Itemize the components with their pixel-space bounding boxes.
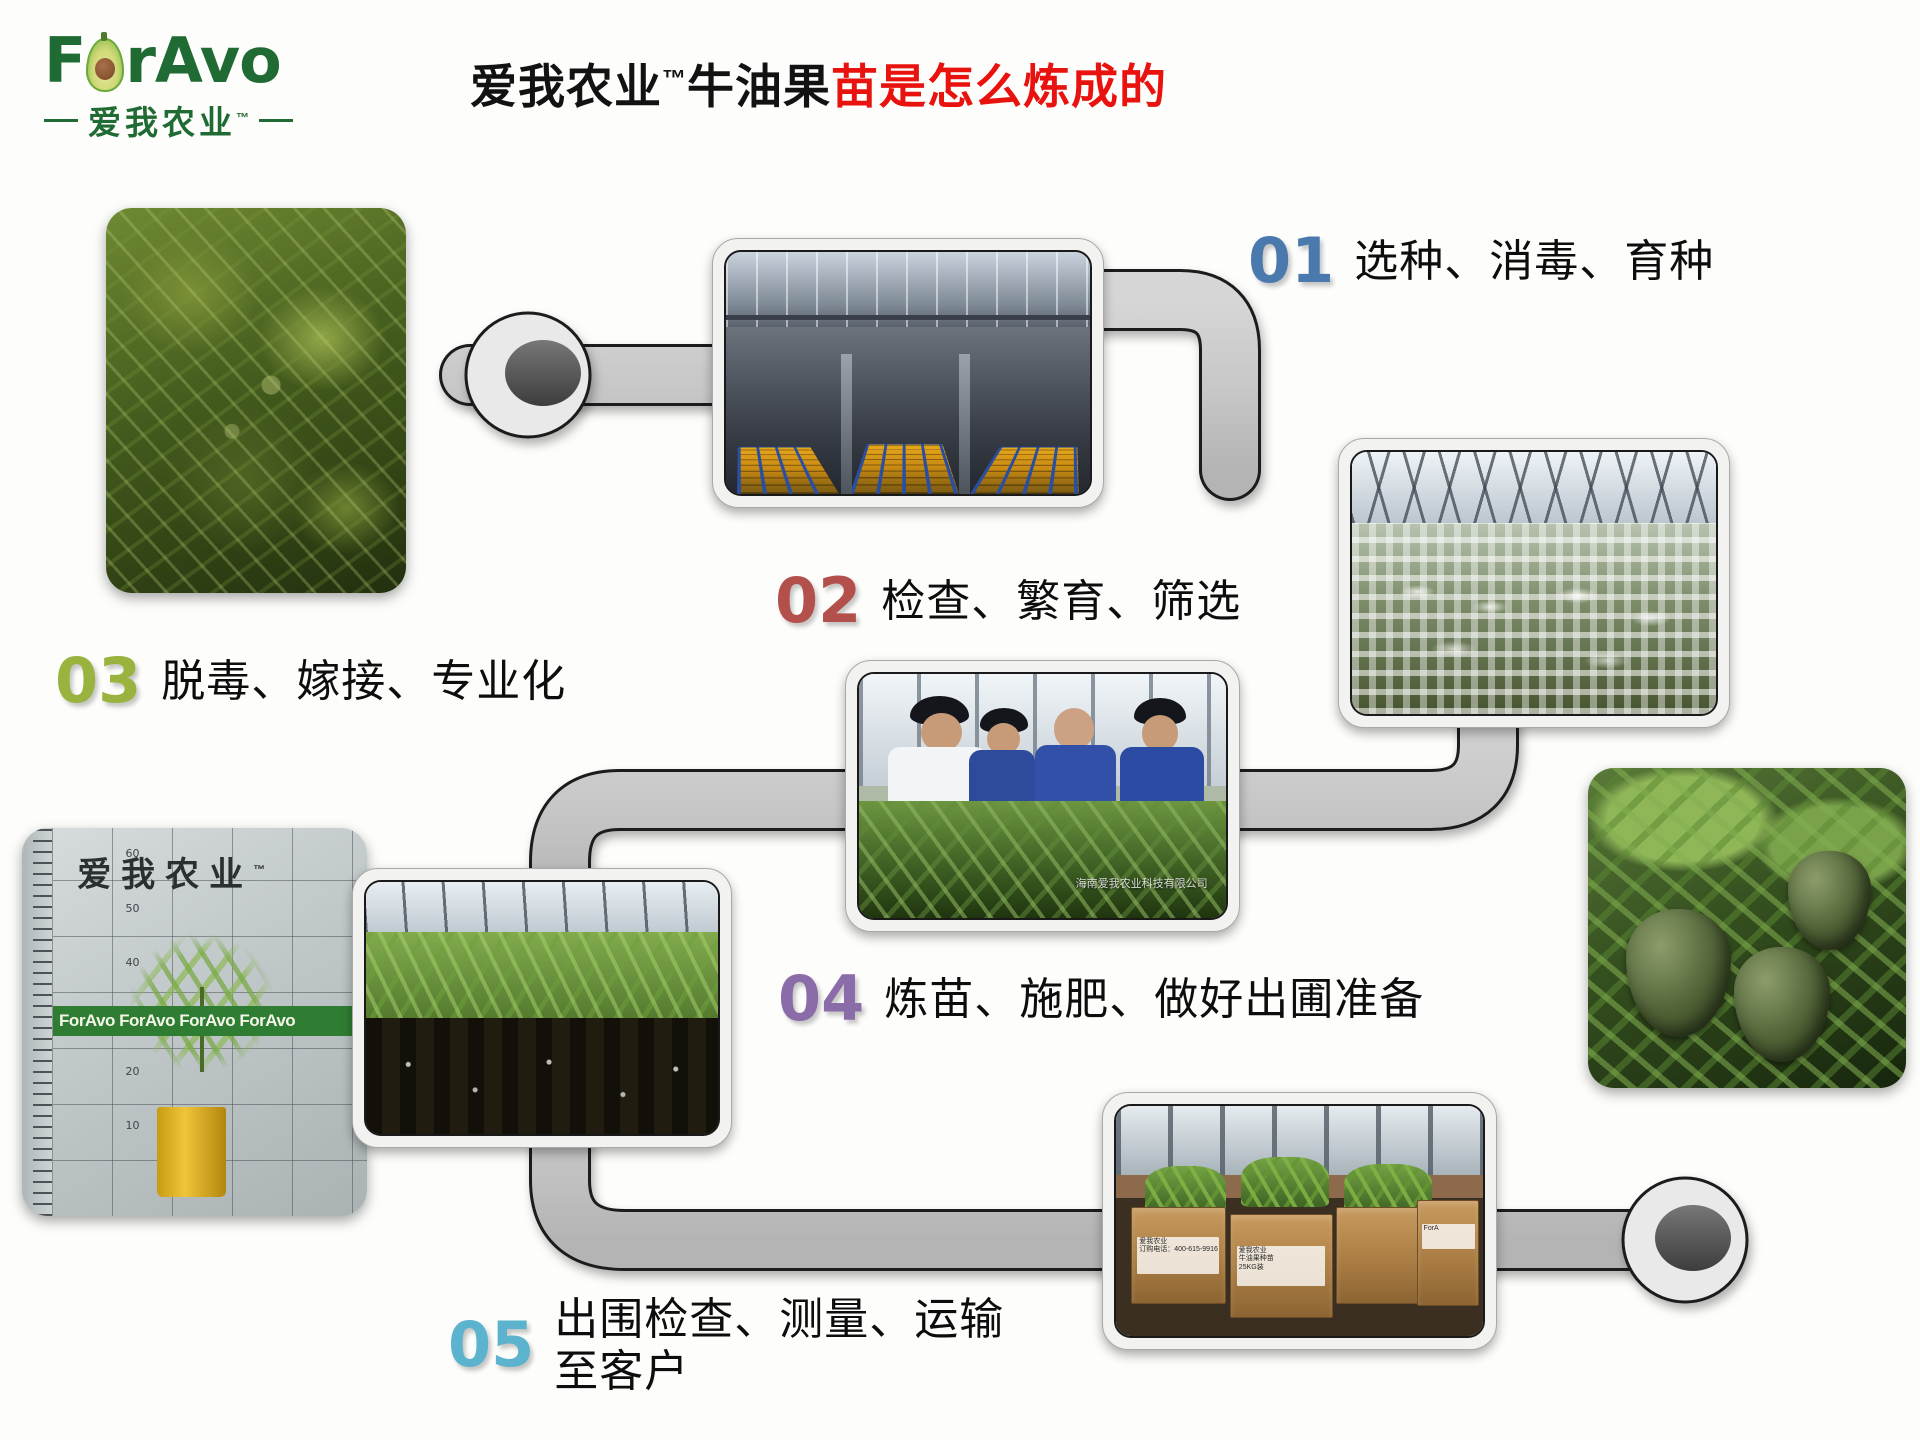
avocado-icon [84,34,126,92]
shipping-boxes-photo: 爱我农业 订购电话：400-615-9916 爱我农业 牛油果种苗 25KG装 … [1102,1092,1497,1350]
step-01-text: 选种、消毒、育种 [1354,230,1714,288]
step-05: 05 出围检查、测量、运输 至客户 [448,1288,1004,1398]
step-04-text: 炼苗、施肥、做好出圃准备 [884,968,1424,1026]
step-02: 02 检查、繁育、筛选 [775,570,1241,632]
photo-watermark: 海南爱我农业科技有限公司 [1076,875,1208,891]
grafting-greenhouse-photo [1338,438,1730,728]
step-02-text: 检查、繁育、筛选 [881,570,1241,628]
infographic-canvas: F rAvo 爱我农业™ 爱我农业™牛油果苗是怎么炼成的 01 [0,0,1920,1440]
step-03-number: 03 [55,650,141,712]
step-03-text: 脱毒、嫁接、专业化 [161,650,566,708]
step-05-number: 05 [448,1288,534,1376]
ribbon-start-endcap [466,313,590,437]
title-black-1: 爱我农业 [470,60,662,113]
logo-chinese-name: 爱我农业™ [88,96,249,144]
step-02-number: 02 [775,570,861,632]
logo-chinese-row: 爱我农业™ [44,96,314,144]
grafting-greenhouse-art [1352,452,1716,714]
title-red: 苗是怎么炼成的 [831,60,1167,113]
box-label: 爱我农业 牛油果种苗 25KG装 [1237,1246,1326,1287]
step-05-line1: 出围检查、测量、运输 [554,1295,1004,1344]
avocado-fruit-art [1588,768,1906,1088]
avocado-flower-art [106,208,406,593]
potted-seedlings-art [366,882,718,1134]
logo-rule-right [259,119,293,122]
logo-rule-left [44,119,78,122]
box-label: 爱我农业 订购电话：400-615-9916 [1137,1237,1219,1275]
step-05-text: 出围检查、测量、运输 至客户 [554,1288,1004,1398]
page-title: 爱我农业™牛油果苗是怎么炼成的 [470,48,1167,117]
seed-tray-art [726,252,1090,494]
seed-tray-greenhouse-photo [712,238,1104,508]
ruler-brandmark: 爱我农业™ [77,847,265,896]
ruler-tick-50: 50 [126,902,140,915]
ruler-foravo-band: ForAvo ForAvo ForAvo ForAvo [53,1006,367,1036]
logo-tm: ™ [236,110,249,125]
logo-wordmark: F rAvo [44,30,314,92]
logo-word-pre: F [44,24,85,97]
staff-inspection-photo: 海南爱我农业科技有限公司 [845,660,1240,932]
logo-word-post: rAvo [125,24,280,97]
ruler-scale [22,828,53,1216]
ruler-measurement-photo: 60 50 40 30 20 10 爱我农业™ ForAvo ForAvo Fo… [22,828,367,1216]
yellow-pot [157,1107,226,1196]
box-side-label: ForA [1422,1224,1475,1249]
step-03: 03 脱毒、嫁接、专业化 [55,650,566,712]
potted-seedlings-photo [352,868,732,1148]
step-04: 04 炼苗、施肥、做好出圃准备 [778,968,1424,1030]
avocado-fruit-on-tree-photo [1588,768,1906,1088]
avocado-flower-photo [106,208,406,593]
step-01: 01 选种、消毒、育种 [1248,230,1714,292]
title-black-2: 牛油果 [687,60,831,113]
step-04-number: 04 [778,968,864,1030]
title-tm: ™ [662,65,687,92]
ruler-tick-10: 10 [126,1119,140,1132]
step-05-line2: 至客户 [554,1346,1004,1398]
brand-logo[interactable]: F rAvo 爱我农业™ [44,30,314,140]
staff-inspection-art: 海南爱我农业科技有限公司 [859,674,1226,918]
step-01-number: 01 [1248,230,1334,292]
shipping-boxes-art: 爱我农业 订购电话：400-615-9916 爱我农业 牛油果种苗 25KG装 … [1116,1106,1483,1336]
ruler-measurement-art: 60 50 40 30 20 10 爱我农业™ ForAvo ForAvo Fo… [22,828,367,1216]
ribbon-end-endcap [1623,1178,1747,1302]
